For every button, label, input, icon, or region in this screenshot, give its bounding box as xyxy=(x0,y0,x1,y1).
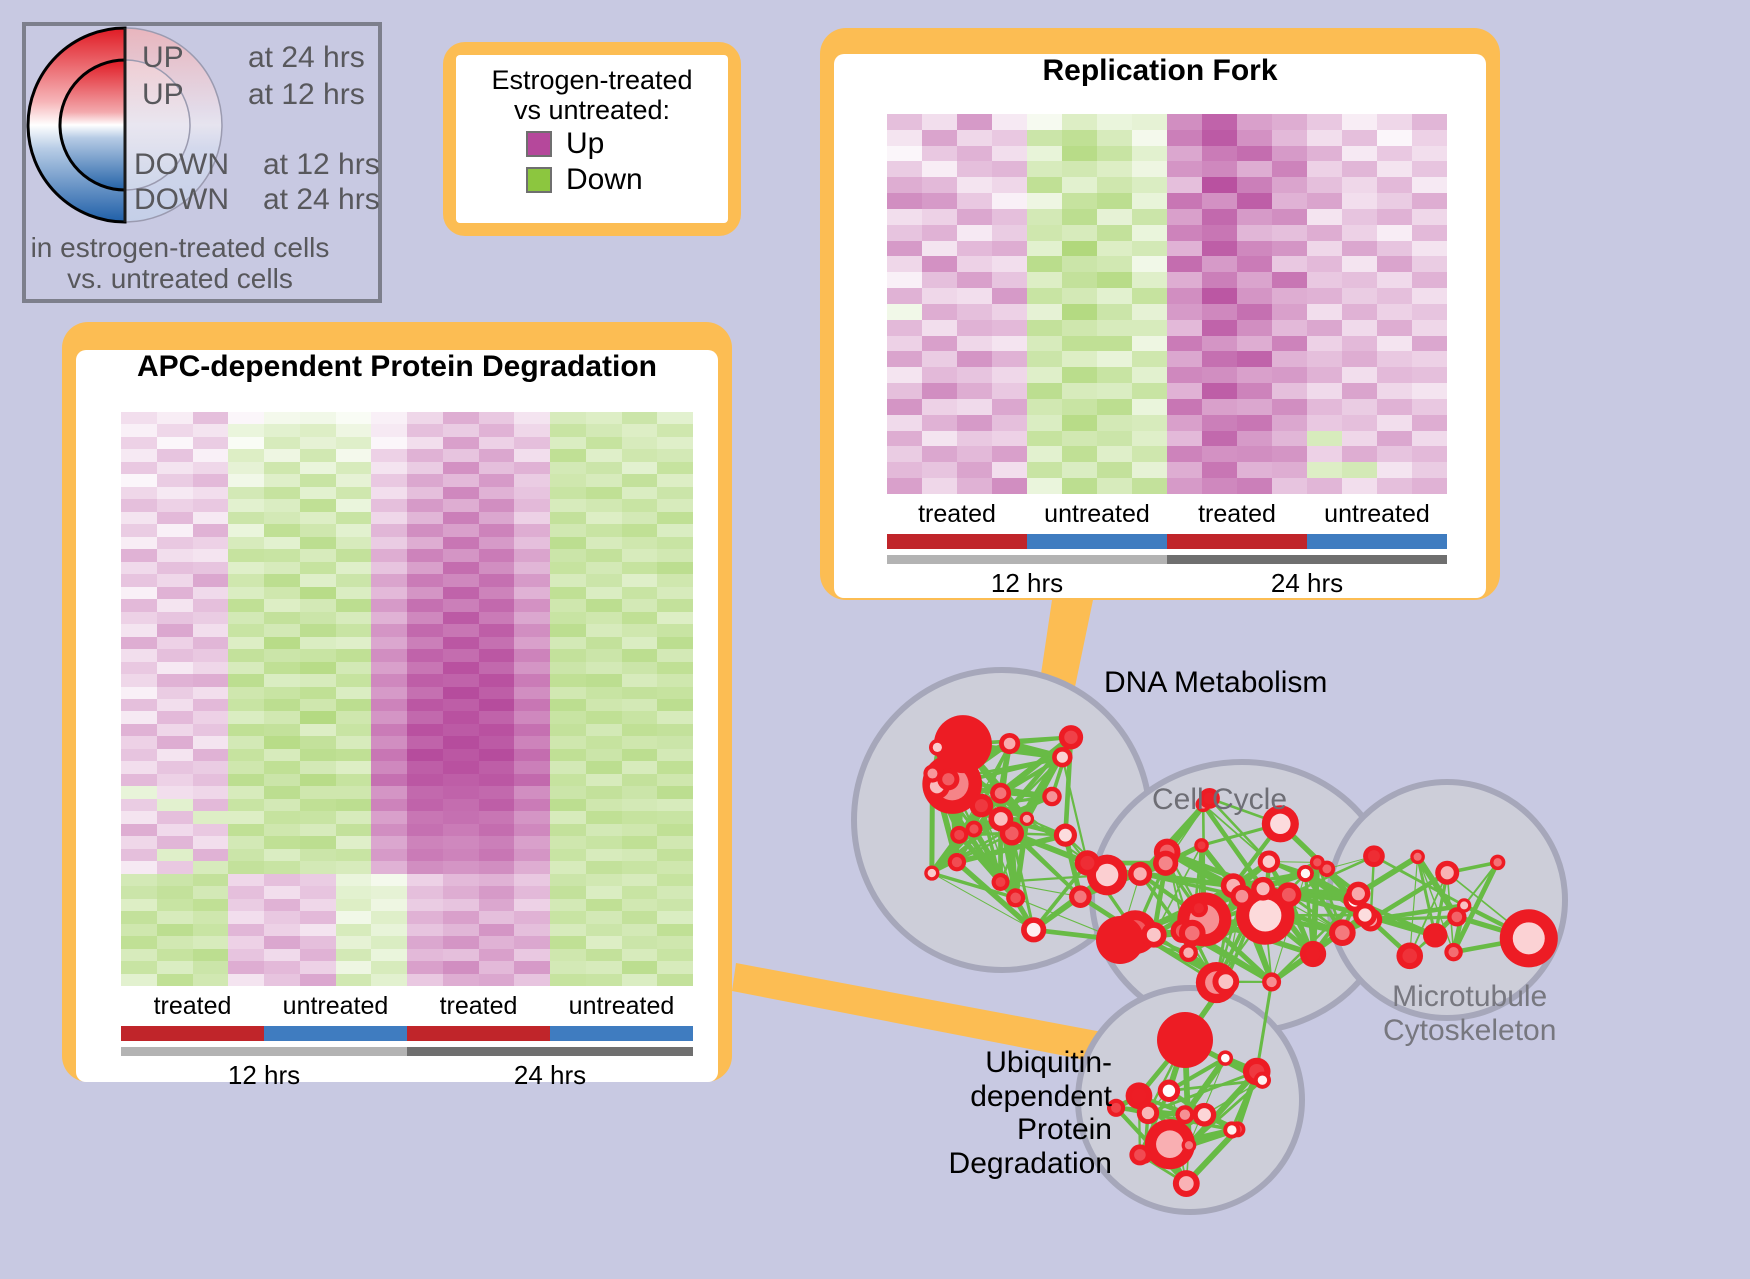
heatmap-cell xyxy=(1202,209,1237,225)
heatmap-cell xyxy=(371,811,407,823)
heatmap-cell xyxy=(228,449,264,461)
heatmap-cell xyxy=(1342,336,1377,352)
heatmap-cell xyxy=(1307,431,1342,447)
heatmap-cell xyxy=(264,736,300,748)
heatmap-cell xyxy=(443,512,479,524)
heatmap-cell xyxy=(228,761,264,773)
heatmap-cell xyxy=(228,487,264,499)
heatmap-cell xyxy=(1202,193,1237,209)
heatmap-cell xyxy=(922,431,957,447)
heatmap-cell xyxy=(1167,478,1202,494)
heatmap-cell xyxy=(121,974,157,986)
heatmap-cell xyxy=(957,272,992,288)
heatmap-cell xyxy=(1132,256,1167,272)
network-node[interactable] xyxy=(1435,861,1459,885)
heatmap-cell xyxy=(228,749,264,761)
heatmap-cell xyxy=(1272,415,1307,431)
heatmap-cell xyxy=(657,449,693,461)
heatmap-cell xyxy=(300,699,336,711)
network-node[interactable] xyxy=(1192,1103,1216,1127)
heatmap-cell xyxy=(157,624,193,636)
heatmap-cell xyxy=(228,499,264,511)
heatmap-cell xyxy=(228,474,264,486)
network-node[interactable] xyxy=(999,733,1020,754)
heatmap-cell xyxy=(479,849,515,861)
heatmap-cell xyxy=(922,241,957,257)
heatmap-cell xyxy=(1377,383,1412,399)
network-node[interactable] xyxy=(1194,838,1209,853)
heatmap-cell xyxy=(264,899,300,911)
heatmap-cell xyxy=(514,936,550,948)
heatmap-cell xyxy=(407,637,443,649)
network-node[interactable] xyxy=(950,826,968,844)
heatmap-cell xyxy=(157,749,193,761)
heatmap-cell xyxy=(443,562,479,574)
network-node[interactable] xyxy=(1353,903,1377,927)
heatmap-cell xyxy=(479,462,515,474)
heatmap-cell xyxy=(657,936,693,948)
heatmap-cell xyxy=(336,774,372,786)
heatmap-cell xyxy=(1412,462,1447,478)
heatmap-cell xyxy=(443,949,479,961)
network-node[interactable] xyxy=(1444,943,1462,961)
heatmap-cell xyxy=(1027,431,1062,447)
network-node[interactable] xyxy=(1175,1105,1194,1124)
network-node[interactable] xyxy=(1179,920,1206,947)
network-node[interactable] xyxy=(1020,812,1034,826)
heatmap-cell xyxy=(407,711,443,723)
network-node[interactable] xyxy=(1179,943,1198,962)
heatmap-cell xyxy=(514,449,550,461)
heatmap-cell xyxy=(1412,351,1447,367)
heatmap-cell xyxy=(300,911,336,923)
heatmap-cell xyxy=(992,367,1027,383)
heatmap-cell xyxy=(586,537,622,549)
heatmap-cell xyxy=(443,687,479,699)
heatmap-cell xyxy=(1237,431,1272,447)
heatmap-cell xyxy=(586,974,622,986)
rf-time-label-12: 12 hrs xyxy=(887,568,1167,599)
network-node[interactable] xyxy=(990,783,1011,804)
heatmap-cell xyxy=(1272,241,1307,257)
heatmap-cell xyxy=(371,662,407,674)
heatmap-cell xyxy=(922,399,957,415)
heatmap-cell xyxy=(1307,383,1342,399)
heatmap-cell xyxy=(157,924,193,936)
heatmap-cell xyxy=(193,487,229,499)
heatmap-cell xyxy=(1377,336,1412,352)
heatmap-cell xyxy=(622,786,658,798)
heatmap-cell xyxy=(1027,256,1062,272)
node-inner-core xyxy=(1147,928,1161,942)
network-node[interactable] xyxy=(923,764,941,782)
network-node[interactable] xyxy=(1346,882,1370,906)
heatmap-cell xyxy=(157,462,193,474)
heatmap-cell xyxy=(193,874,229,886)
heatmap-cell xyxy=(622,474,658,486)
heatmap-cell xyxy=(157,936,193,948)
heatmap-cell xyxy=(1097,161,1132,177)
heatmap-cell xyxy=(228,824,264,836)
heatmap-cell xyxy=(1377,304,1412,320)
network-node[interactable] xyxy=(1212,968,1239,995)
heatmap-cell xyxy=(1202,399,1237,415)
heatmap-cell xyxy=(1097,431,1132,447)
heatmap-cell xyxy=(1412,336,1447,352)
heatmap-cell xyxy=(264,537,300,549)
network-node[interactable] xyxy=(1075,850,1100,875)
heatmap-cell xyxy=(622,537,658,549)
heatmap-cell xyxy=(443,924,479,936)
network-node[interactable] xyxy=(1059,725,1083,749)
heatmap-cell xyxy=(407,836,443,848)
apc-cond-label-2: treated xyxy=(407,992,550,1021)
heatmap-cell xyxy=(957,114,992,130)
heatmap-cell xyxy=(550,437,586,449)
network-node[interactable] xyxy=(1042,787,1062,807)
heatmap-cell xyxy=(1272,193,1307,209)
network-node[interactable] xyxy=(1218,1050,1233,1065)
network-node[interactable] xyxy=(1251,877,1275,901)
heatmap-cell xyxy=(1132,351,1167,367)
heatmap-cell xyxy=(586,824,622,836)
network-node[interactable] xyxy=(1490,855,1505,870)
heatmap-cell xyxy=(550,599,586,611)
network-node[interactable] xyxy=(1310,855,1325,870)
heatmap-cell xyxy=(622,599,658,611)
heatmap-cell xyxy=(622,911,658,923)
heatmap-cell xyxy=(1097,320,1132,336)
heatmap-cell xyxy=(657,687,693,699)
heatmap-cell xyxy=(1237,351,1272,367)
heatmap-cell xyxy=(407,936,443,948)
heatmap-cell xyxy=(657,836,693,848)
heatmap-cell xyxy=(550,524,586,536)
heatmap-cell xyxy=(121,699,157,711)
heatmap-cell xyxy=(300,637,336,649)
heatmap-cell xyxy=(157,699,193,711)
network-node[interactable] xyxy=(1276,882,1301,907)
network-node[interactable] xyxy=(970,794,994,818)
heatmap-cell xyxy=(479,637,515,649)
legend-down-24-label: DOWN xyxy=(134,183,229,217)
heatmap-cell xyxy=(336,699,372,711)
heatmap-cell xyxy=(264,786,300,798)
heatmap-cell xyxy=(407,462,443,474)
heatmap-cell xyxy=(121,874,157,886)
heatmap-cell xyxy=(1237,304,1272,320)
node-inner-core xyxy=(1183,947,1193,957)
heatmap-cell xyxy=(1342,462,1377,478)
heatmap-cell xyxy=(300,761,336,773)
heatmap-cell xyxy=(1307,367,1342,383)
heatmap-cell xyxy=(264,936,300,948)
network-node[interactable] xyxy=(1223,1121,1240,1138)
heatmap-cell xyxy=(300,587,336,599)
heatmap-cell xyxy=(1132,415,1167,431)
network-node[interactable] xyxy=(1297,865,1314,882)
heatmap-cell xyxy=(622,899,658,911)
network-node[interactable] xyxy=(1129,1144,1150,1165)
network-node[interactable] xyxy=(1182,1138,1197,1153)
legend-up-12-label: UP xyxy=(142,78,184,112)
heatmap-cell xyxy=(1062,272,1097,288)
heatmap-cell xyxy=(550,512,586,524)
heatmap-cell xyxy=(1027,130,1062,146)
heatmap-cell xyxy=(1027,193,1062,209)
network-node[interactable] xyxy=(1500,909,1558,967)
heatmap-cell xyxy=(657,886,693,898)
heatmap-cell xyxy=(479,749,515,761)
heatmap-cell xyxy=(228,462,264,474)
heatmap-cell xyxy=(157,687,193,699)
network-node[interactable] xyxy=(1262,972,1281,991)
heatmap-cell xyxy=(371,624,407,636)
heatmap-cell xyxy=(193,711,229,723)
heatmap-cell xyxy=(586,924,622,936)
heatmap-cell xyxy=(300,437,336,449)
heatmap-cell xyxy=(157,886,193,898)
heatmap-cell xyxy=(1342,225,1377,241)
heatmap-cell xyxy=(407,537,443,549)
heatmap-cell xyxy=(514,537,550,549)
network-node[interactable] xyxy=(1447,907,1466,926)
heatmap-cell xyxy=(992,415,1027,431)
heatmap-cell xyxy=(1132,272,1167,288)
network-node[interactable] xyxy=(1069,885,1092,908)
network-node[interactable] xyxy=(1190,899,1208,917)
heatmap-cell xyxy=(443,699,479,711)
heatmap-cell xyxy=(1027,415,1062,431)
network-node[interactable] xyxy=(1157,1012,1213,1068)
heatmap-cell xyxy=(887,193,922,209)
network-node[interactable] xyxy=(1006,888,1025,907)
heatmap-cell xyxy=(443,974,479,986)
heatmap-cell xyxy=(992,177,1027,193)
heatmap-cell xyxy=(957,478,992,494)
network-node[interactable] xyxy=(1141,922,1167,948)
heatmap-cell xyxy=(193,499,229,511)
heatmap-cell xyxy=(1307,399,1342,415)
heatmap-cell xyxy=(121,886,157,898)
heatmap-cell xyxy=(336,512,372,524)
legend-footer-text: in estrogen-treated cells vs. untreated … xyxy=(0,232,360,295)
network-node[interactable] xyxy=(1054,824,1077,847)
heatmap-cell xyxy=(121,649,157,661)
heatmap-cell xyxy=(550,724,586,736)
heatmap-cell xyxy=(479,761,515,773)
network-node[interactable] xyxy=(1173,1170,1200,1197)
heatmap-cell xyxy=(228,936,264,948)
heatmap-cell xyxy=(1062,478,1097,494)
heatmap-cell xyxy=(1202,241,1237,257)
heatmap-cell xyxy=(228,537,264,549)
heatmap-cell xyxy=(264,961,300,973)
heatmap-cell xyxy=(514,886,550,898)
heatmap-cell xyxy=(1167,304,1202,320)
heatmap-cell xyxy=(1202,288,1237,304)
heatmap-cell xyxy=(1202,161,1237,177)
network-node[interactable] xyxy=(1230,885,1253,908)
heatmap-cell xyxy=(193,699,229,711)
heatmap-cell xyxy=(550,736,586,748)
heatmap-cell xyxy=(992,272,1027,288)
heatmap-cell xyxy=(193,861,229,873)
heatmap-cell xyxy=(300,487,336,499)
heatmap-cell xyxy=(300,749,336,761)
heatmap-cell xyxy=(1097,336,1132,352)
heatmap-cell xyxy=(407,974,443,986)
heatmap-cell xyxy=(193,524,229,536)
network-node[interactable] xyxy=(1128,862,1152,886)
heatmap-cell xyxy=(371,587,407,599)
heatmap-cell xyxy=(657,761,693,773)
legend-at-12-label: at 12 hrs xyxy=(248,78,365,112)
heatmap-cell xyxy=(957,383,992,399)
heatmap-cell xyxy=(1027,320,1062,336)
node-inner-core xyxy=(1263,855,1275,867)
heatmap-cell xyxy=(264,562,300,574)
heatmap-cell xyxy=(157,537,193,549)
heatmap-cell xyxy=(371,424,407,436)
heatmap-cell xyxy=(121,549,157,561)
heatmap-cell xyxy=(586,699,622,711)
heatmap-cell xyxy=(887,383,922,399)
heatmap-cell xyxy=(407,824,443,836)
heatmap-cell xyxy=(1237,114,1272,130)
heatmap-cell xyxy=(336,974,372,986)
heatmap-cell xyxy=(336,736,372,748)
heatmap-cell xyxy=(550,949,586,961)
heatmap-cell xyxy=(992,462,1027,478)
network-node[interactable] xyxy=(1410,850,1425,865)
heatmap-cell xyxy=(1132,320,1167,336)
heatmap-cell xyxy=(300,662,336,674)
heatmap-cell xyxy=(264,886,300,898)
heatmap-cell xyxy=(1272,446,1307,462)
heatmap-cell xyxy=(443,874,479,886)
heatmap-cell xyxy=(657,424,693,436)
heatmap-cell xyxy=(622,662,658,674)
heatmap-cell xyxy=(1167,446,1202,462)
heatmap-cell xyxy=(586,961,622,973)
network-node[interactable] xyxy=(1254,1072,1271,1089)
network-node[interactable] xyxy=(929,739,946,756)
heatmap-cell xyxy=(1272,431,1307,447)
heatmap-cell xyxy=(1062,383,1097,399)
heatmap-cell xyxy=(1377,431,1412,447)
network-node[interactable] xyxy=(1021,917,1046,942)
network-node[interactable] xyxy=(1096,916,1144,964)
heatmap-cell xyxy=(657,487,693,499)
heatmap-cell xyxy=(264,524,300,536)
network-node[interactable] xyxy=(1153,851,1178,876)
heatmap-cell xyxy=(922,462,957,478)
heatmap-cell xyxy=(992,146,1027,162)
heatmap-cell xyxy=(228,849,264,861)
heatmap-cell xyxy=(550,786,586,798)
heatmap-cell xyxy=(443,761,479,773)
network-node[interactable] xyxy=(1052,747,1072,767)
network-node[interactable] xyxy=(1300,941,1326,967)
heatmap-cell xyxy=(514,512,550,524)
node-inner-core xyxy=(1080,856,1094,870)
rf-time-bar-24 xyxy=(1167,555,1447,564)
heatmap-cell xyxy=(514,574,550,586)
heatmap-cell xyxy=(407,961,443,973)
heatmap-cell xyxy=(407,736,443,748)
network-node[interactable] xyxy=(1258,850,1280,872)
heatmap-cell xyxy=(622,699,658,711)
heatmap-cell xyxy=(657,774,693,786)
heatmap-cell xyxy=(228,637,264,649)
heatmap-cell xyxy=(622,861,658,873)
heatmap-cell xyxy=(1132,130,1167,146)
network-node[interactable] xyxy=(948,853,966,871)
network-node[interactable] xyxy=(1126,1082,1153,1109)
heatmap-cell xyxy=(193,649,229,661)
heatmap-cell xyxy=(407,549,443,561)
network-node[interactable] xyxy=(1329,919,1356,946)
heatmap-cell xyxy=(1377,446,1412,462)
heatmap-cell xyxy=(550,537,586,549)
heatmap-cell xyxy=(887,225,922,241)
heatmap-cell xyxy=(157,849,193,861)
heatmap-cell xyxy=(992,193,1027,209)
heatmap-cell xyxy=(1167,351,1202,367)
heatmap-cell xyxy=(371,687,407,699)
heatmap-cell xyxy=(1237,241,1272,257)
heatmap-cell xyxy=(228,786,264,798)
heatmap-cell xyxy=(264,512,300,524)
heatmap-cell xyxy=(586,437,622,449)
network-node[interactable] xyxy=(1363,845,1385,867)
heatmap-cell xyxy=(371,674,407,686)
heatmap-cell xyxy=(121,499,157,511)
heatmap-cell xyxy=(514,699,550,711)
node-inner-core xyxy=(1448,947,1458,957)
heatmap-cell xyxy=(443,537,479,549)
node-inner-core xyxy=(1402,949,1417,964)
heatmap-cell xyxy=(1202,367,1237,383)
heatmap-cell xyxy=(622,687,658,699)
heatmap-cell xyxy=(407,786,443,798)
heatmap-cell xyxy=(586,687,622,699)
heatmap-cell xyxy=(371,711,407,723)
heatmap-cell xyxy=(1097,225,1132,241)
heatmap-cell xyxy=(1132,478,1167,494)
heatmap-cell xyxy=(300,711,336,723)
heatmap-cell xyxy=(992,304,1027,320)
network-node[interactable] xyxy=(992,873,1010,891)
heatmap-cell xyxy=(300,449,336,461)
heatmap-cell xyxy=(157,599,193,611)
heatmap-cell xyxy=(300,861,336,873)
network-node[interactable] xyxy=(1158,1080,1180,1102)
heatmap-cell xyxy=(1097,383,1132,399)
rf-time-bar-12 xyxy=(887,555,1167,564)
heatmap-cell xyxy=(336,936,372,948)
heatmap-cell xyxy=(371,549,407,561)
heatmap-cell xyxy=(1167,193,1202,209)
network-node[interactable] xyxy=(924,865,939,880)
network-node[interactable] xyxy=(1396,943,1423,970)
heatmap-cell xyxy=(657,574,693,586)
heatmap-cell xyxy=(1342,478,1377,494)
heatmap-cell xyxy=(121,849,157,861)
network-node[interactable] xyxy=(1423,923,1447,947)
heatmap-cell xyxy=(300,811,336,823)
